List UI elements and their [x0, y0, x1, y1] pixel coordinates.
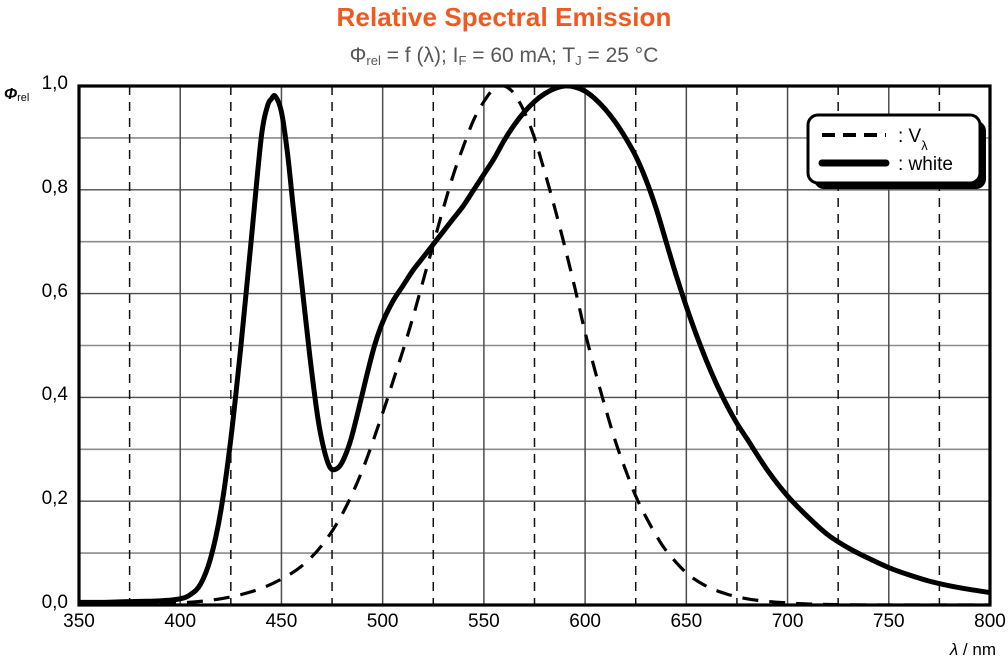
legend: : Vλ: white	[808, 115, 986, 189]
plot-svg: : Vλ: white	[0, 0, 1008, 667]
chart-root: Relative Spectral Emission Φrel = f (λ);…	[0, 0, 1008, 667]
legend-label-sub-v-lambda: λ	[921, 138, 928, 153]
legend-box	[808, 115, 980, 183]
legend-label-white: : white	[898, 154, 953, 175]
